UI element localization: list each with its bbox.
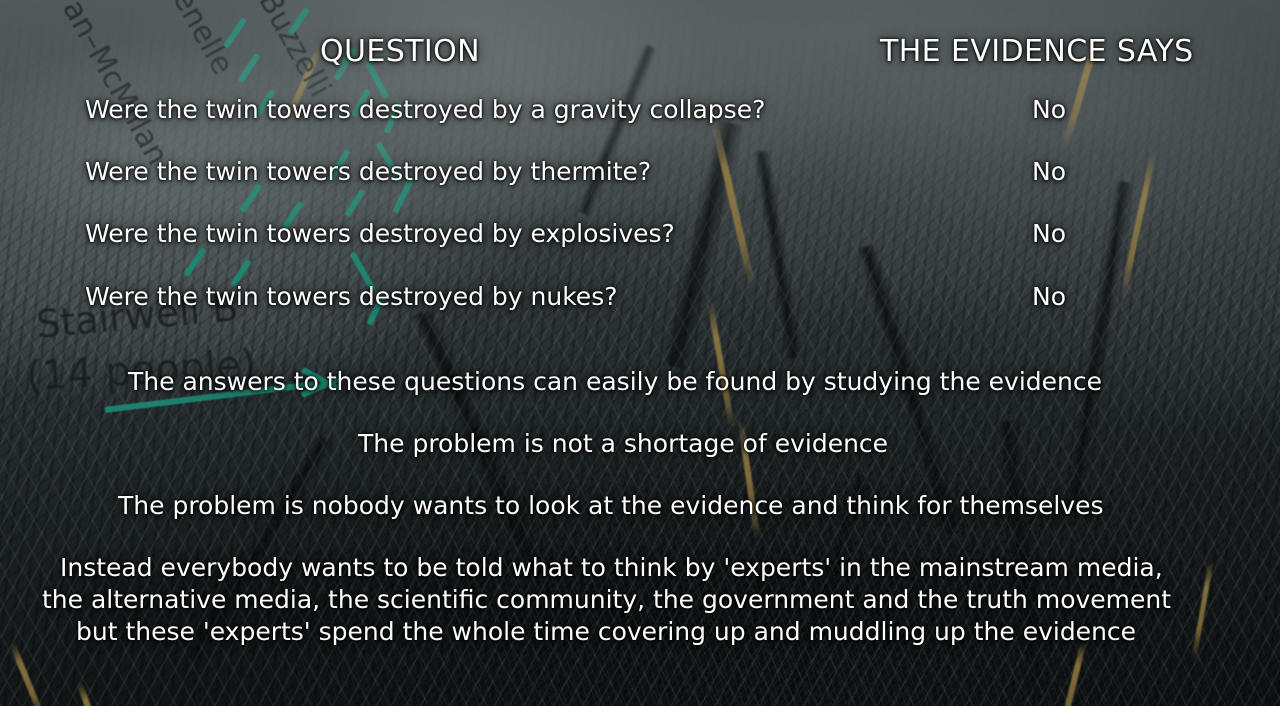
slide-content: QUESTION THE EVIDENCE SAYS Were the twin… <box>0 0 1280 706</box>
closing-paragraph-line-3: but these 'experts' spend the whole time… <box>76 617 1136 646</box>
statement-line-2: The problem is not a shortage of evidenc… <box>358 429 888 458</box>
question-row-4-text: Were the twin towers destroyed by nukes? <box>85 282 617 311</box>
column-header-evidence: THE EVIDENCE SAYS <box>880 34 1194 69</box>
column-header-question: QUESTION <box>320 34 480 69</box>
question-row-2-text: Were the twin towers destroyed by thermi… <box>85 157 651 186</box>
question-row-3-text: Were the twin towers destroyed by explos… <box>85 219 675 248</box>
slide-canvas: an–McMillan enelle Buzzelli Stairwell B … <box>0 0 1280 706</box>
answer-row-2-text: No <box>1032 157 1066 186</box>
statement-line-1: The answers to these questions can easil… <box>128 367 1102 396</box>
answer-row-3-text: No <box>1032 219 1066 248</box>
statement-line-3: The problem is nobody wants to look at t… <box>118 491 1104 520</box>
answer-row-1-text: No <box>1032 95 1066 124</box>
question-row-1-text: Were the twin towers destroyed by a grav… <box>85 95 765 124</box>
closing-paragraph-line-1: Instead everybody wants to be told what … <box>60 553 1163 582</box>
closing-paragraph-line-2: the alternative media, the scientific co… <box>42 585 1171 614</box>
answer-row-4-text: No <box>1032 282 1066 311</box>
